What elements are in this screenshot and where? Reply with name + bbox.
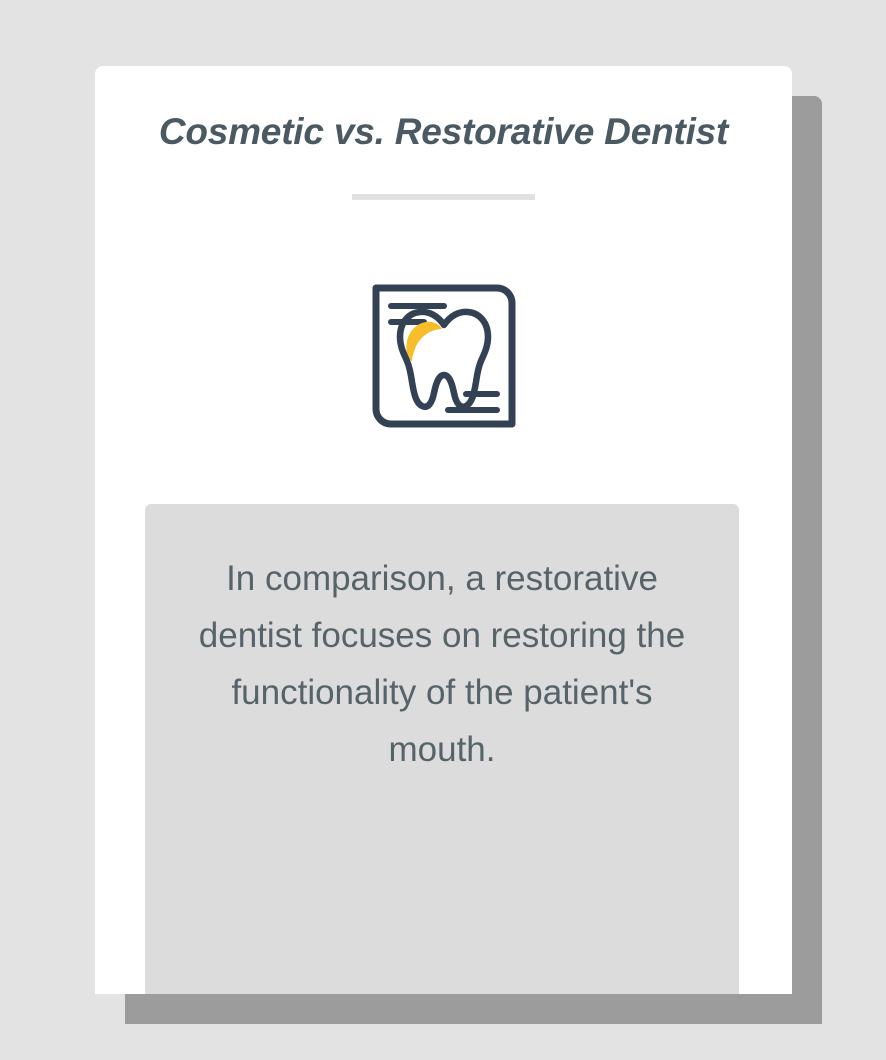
- dental-xray-tooth-icon: [369, 281, 519, 436]
- body-panel: In comparison, a restorative dentist foc…: [145, 504, 739, 994]
- title-divider: [352, 194, 535, 200]
- page-title: Cosmetic vs. Restorative Dentist: [95, 111, 792, 153]
- content-card: Cosmetic vs. Restorative Dentist In comp…: [95, 66, 792, 994]
- body-text: In comparison, a restorative dentist foc…: [175, 550, 709, 778]
- icon-container: [95, 281, 792, 436]
